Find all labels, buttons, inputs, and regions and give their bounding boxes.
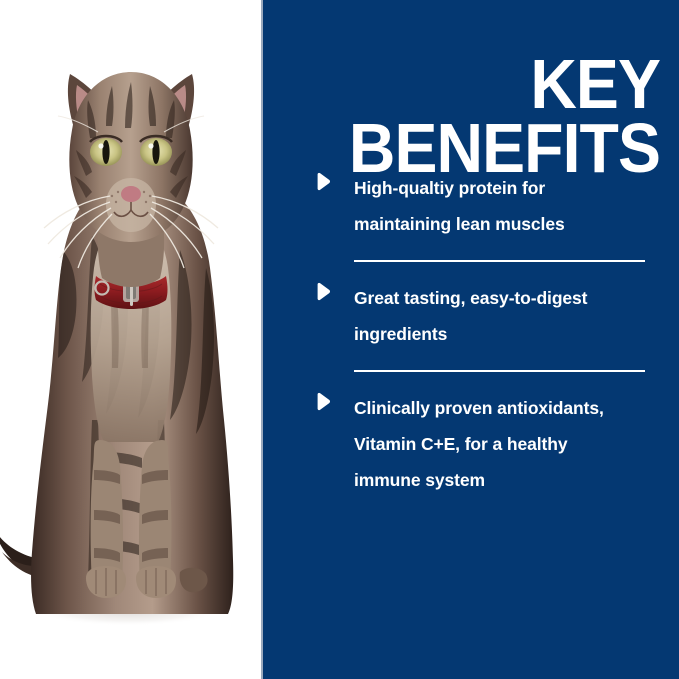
benefits-panel: KEY BENEFITS High-qualtiy protein for ma… bbox=[262, 0, 679, 679]
page-title-line-1: KEY bbox=[294, 52, 660, 116]
benefit-separator bbox=[354, 370, 645, 372]
benefit-text: Great tasting, easy-to-digest ingredient… bbox=[354, 280, 658, 352]
page-title: KEY BENEFITS bbox=[294, 52, 660, 180]
benefit-item: High-qualtiy protein for maintaining lea… bbox=[313, 170, 658, 242]
benefit-line: Vitamin C+E, for a healthy bbox=[354, 434, 567, 454]
benefit-item: Great tasting, easy-to-digest ingredient… bbox=[313, 280, 658, 352]
benefit-line: maintaining lean muscles bbox=[354, 214, 565, 234]
benefit-line: Clinically proven antioxidants, bbox=[354, 398, 604, 418]
benefit-text: High-qualtiy protein for maintaining lea… bbox=[354, 170, 658, 242]
benefits-list: High-qualtiy protein for maintaining lea… bbox=[313, 170, 658, 498]
triangle-right-icon bbox=[313, 170, 354, 191]
panel-divider bbox=[261, 0, 263, 679]
benefit-line: immune system bbox=[354, 470, 485, 490]
benefit-line: Great tasting, easy-to-digest bbox=[354, 288, 587, 308]
benefit-line: ingredients bbox=[354, 324, 447, 344]
benefit-separator bbox=[354, 260, 645, 262]
key-benefits-infographic: KEY BENEFITS High-qualtiy protein for ma… bbox=[0, 0, 679, 679]
cat-photo-panel bbox=[0, 0, 262, 679]
benefit-item: Clinically proven antioxidants, Vitamin … bbox=[313, 390, 658, 498]
benefit-text: Clinically proven antioxidants, Vitamin … bbox=[354, 390, 658, 498]
triangle-right-icon bbox=[313, 280, 354, 301]
cat-photo bbox=[0, 0, 262, 679]
benefit-line: High-qualtiy protein for bbox=[354, 178, 545, 198]
triangle-right-icon bbox=[313, 390, 354, 411]
